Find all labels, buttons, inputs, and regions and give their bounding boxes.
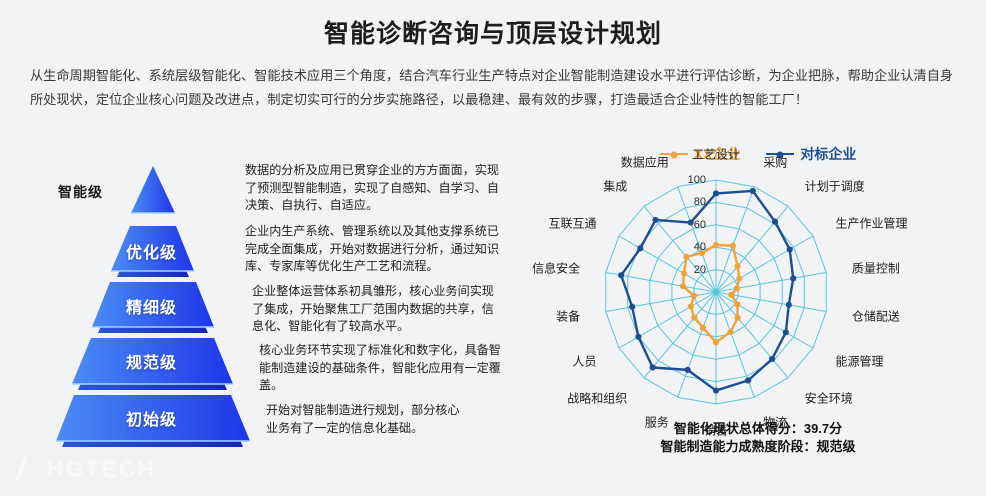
hgtech-wordmark: HGTECH <box>47 456 156 483</box>
page-title: 智能诊断咨询与顶层设计规划 <box>0 14 986 50</box>
radar-axis-label-3: 生产作业管理 <box>836 215 908 232</box>
radar-axis-label-13: 装备 <box>556 307 580 324</box>
pyramid-desc-4: 核心业务环节实现了标准化和数字化，具备智能制造建设的基础条件，智能化应用有一定覆… <box>259 342 504 395</box>
radar-chart-panel: XX企业 对标企业 工艺设计采购计划于调度生产作业管理质量控制仓储配送能源管理安… <box>530 144 986 444</box>
radar-tick-label-40: 40 <box>694 241 706 253</box>
radar-axis-label-17: 数据应用 <box>621 154 669 171</box>
pyramid-desc-5: 开始对智能制造进行规划，部分核心业务有了一定的信息化基础。 <box>266 402 466 437</box>
summary-score: 智能化现状总体得分：39.7分 <box>530 420 986 438</box>
intro-paragraph: 从生命周期智能化、系统层级智能化、智能技术应用三个角度，结合汽车行业生产特点对企… <box>30 64 960 112</box>
radar-axis-label-0: 工艺设计 <box>692 146 740 163</box>
hgtech-logo-icon <box>14 457 40 481</box>
radar-summary: 智能化现状总体得分：39.7分 智能制造能力成熟度阶段：规范级 <box>530 420 986 456</box>
maturity-pyramid: 智能级 优化级 精细级 规范级 初始级 数据的分析及应用已贯穿企业的方方面面，实… <box>0 150 540 470</box>
radar-axis-label-16: 集成 <box>603 178 627 195</box>
radar-tick-label-100: 100 <box>688 174 706 186</box>
radar-axis-label-7: 安全环境 <box>805 389 853 406</box>
radar-tick-label-20: 20 <box>694 264 706 276</box>
radar-axis-label-15: 互联互通 <box>548 215 596 232</box>
pyramid-desc-2: 企业内生产系统、管理系统以及其他支撑系统已完成全面集成，开始对数据进行分析，通过… <box>245 223 503 276</box>
summary-stage: 智能制造能力成熟度阶段：规范级 <box>530 438 986 456</box>
legend-label-1: 对标企业 <box>800 144 856 164</box>
radar-legend: XX企业 对标企业 <box>530 144 986 164</box>
radar-axis-label-11: 战略和组织 <box>567 389 627 406</box>
radar-tick-label-80: 80 <box>694 196 706 208</box>
radar-axis-label-2: 计划于调度 <box>805 178 865 195</box>
hgtech-watermark: HGTECH <box>14 452 156 486</box>
radar-axis-label-14: 信息安全 <box>532 260 580 277</box>
radar-axis-label-4: 质量控制 <box>852 260 900 277</box>
pyramid-desc-1: 数据的分析及应用已贯穿企业的方方面面，实现了预测型智能制造，实现了自感知、自学习… <box>245 162 503 215</box>
pyramid-desc-3: 企业整体运营体系初具雏形，核心业务间实现了集成，开始聚焦工厂范围内数据的共享，信… <box>252 283 504 336</box>
radar-axis-label-6: 能源管理 <box>836 353 884 370</box>
radar-plot <box>530 166 986 416</box>
radar-axis-label-5: 仓储配送 <box>852 307 900 324</box>
radar-tick-label-60: 60 <box>694 219 706 231</box>
radar-axis-label-1: 采购 <box>763 154 787 171</box>
radar-axis-label-12: 人员 <box>572 353 596 370</box>
